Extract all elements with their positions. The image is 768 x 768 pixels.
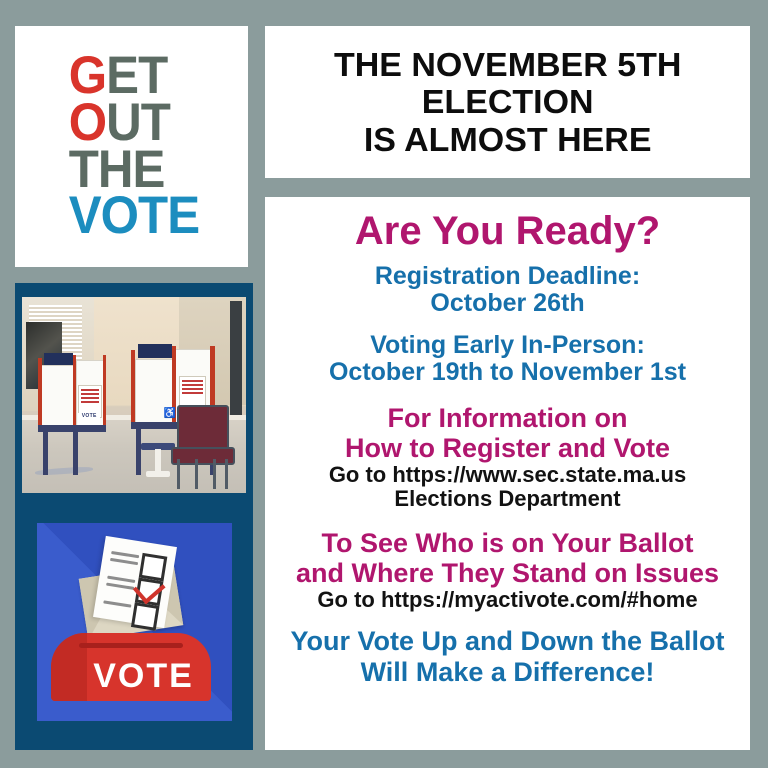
booth-frame-mid (73, 355, 77, 428)
early-voting-dates: October 19th to November 1st (275, 359, 740, 387)
registration-deadline-date: October 26th (275, 290, 740, 318)
pedestal-column (155, 449, 161, 471)
ballot-text-line (106, 582, 134, 589)
booth-header-sign (138, 344, 172, 357)
ballot-text-line (107, 575, 135, 582)
ballot-drop-box: VOTE (51, 633, 211, 701)
headline-line-2: ELECTION (334, 83, 681, 121)
booth-privacy-panel (41, 365, 76, 429)
are-you-ready-heading: Are You Ready? (275, 209, 740, 254)
logo-line-vote: VOTE (69, 193, 199, 240)
ballot-box-panel: VOTE (15, 493, 253, 750)
registration-deadline-label: Registration Deadline: (275, 263, 740, 291)
myactivote-url[interactable]: Go to https://myactivote.com/#home (275, 588, 740, 612)
booth-frame-right (103, 355, 107, 428)
booth-frame-left (131, 350, 135, 426)
elections-department-label: Elections Department (275, 487, 740, 511)
booth-leg (43, 432, 48, 476)
polling-place-chair (171, 405, 233, 489)
booth-header-sign (44, 353, 73, 366)
chair-back (177, 405, 229, 453)
ballot-box-illustration: VOTE (37, 523, 232, 721)
ballot-box-vote-text: VOTE (89, 659, 199, 693)
ballot-text-line (103, 600, 131, 607)
headline-text: THE NOVEMBER 5TH ELECTION IS ALMOST HERE (334, 46, 681, 159)
ballot-lookup-block: To See Who is on Your Ballot and Where T… (275, 528, 740, 613)
sec-state-url[interactable]: Go to https://www.sec.state.ma.us (275, 463, 740, 487)
ballot-lookup-line-2: and Where They Stand on Issues (275, 558, 740, 588)
booth-leg (73, 432, 78, 476)
closing-message-block: Your Vote Up and Down the Ballot Will Ma… (275, 626, 740, 686)
chair-leg (225, 459, 228, 489)
voting-booth-1: VOTE (35, 334, 107, 475)
headline-line-1: THE NOVEMBER 5TH (334, 46, 681, 84)
polling-place-voting-booths-photo: VOTE VOTE ♿ (22, 297, 246, 493)
logo-panel: GET OUT THE VOTE (15, 26, 248, 267)
ballot-box-slot (79, 643, 183, 648)
information-block: For Information on How to Register and V… (275, 403, 740, 512)
closing-line-1: Your Vote Up and Down the Ballot (275, 626, 740, 656)
early-voting-label: Voting Early In-Person: (275, 332, 740, 360)
chair-leg (177, 459, 180, 489)
ballot-lookup-line-1: To See Who is on Your Ballot (275, 528, 740, 558)
pedestal-base (146, 471, 170, 477)
ballot-text-line (110, 557, 138, 564)
booth-frame-left (38, 358, 42, 429)
chair-leg (195, 459, 198, 489)
booth-vote-text: VOTE (78, 413, 100, 419)
early-voting-block: Voting Early In-Person: October 19th to … (275, 332, 740, 387)
ballot-text-line (111, 550, 139, 557)
headline-panel: THE NOVEMBER 5TH ELECTION IS ALMOST HERE (265, 26, 750, 178)
ballot-paper (93, 535, 177, 627)
chair-leg (213, 459, 216, 489)
information-line-1: For Information on (275, 403, 740, 433)
main-info-panel: Are You Ready? Registration Deadline: Oc… (265, 197, 750, 750)
booth-shelf (38, 425, 106, 432)
registration-deadline-block: Registration Deadline: October 26th (275, 263, 740, 318)
polling-place-photo-panel: VOTE VOTE ♿ (15, 283, 253, 493)
headline-line-3: IS ALMOST HERE (334, 121, 681, 159)
get-out-the-vote-logo: GET OUT THE VOTE (63, 53, 199, 240)
ballot-checkbox (130, 602, 159, 631)
closing-line-2: Will Make a Difference! (275, 657, 740, 687)
information-line-2: How to Register and Vote (275, 433, 740, 463)
